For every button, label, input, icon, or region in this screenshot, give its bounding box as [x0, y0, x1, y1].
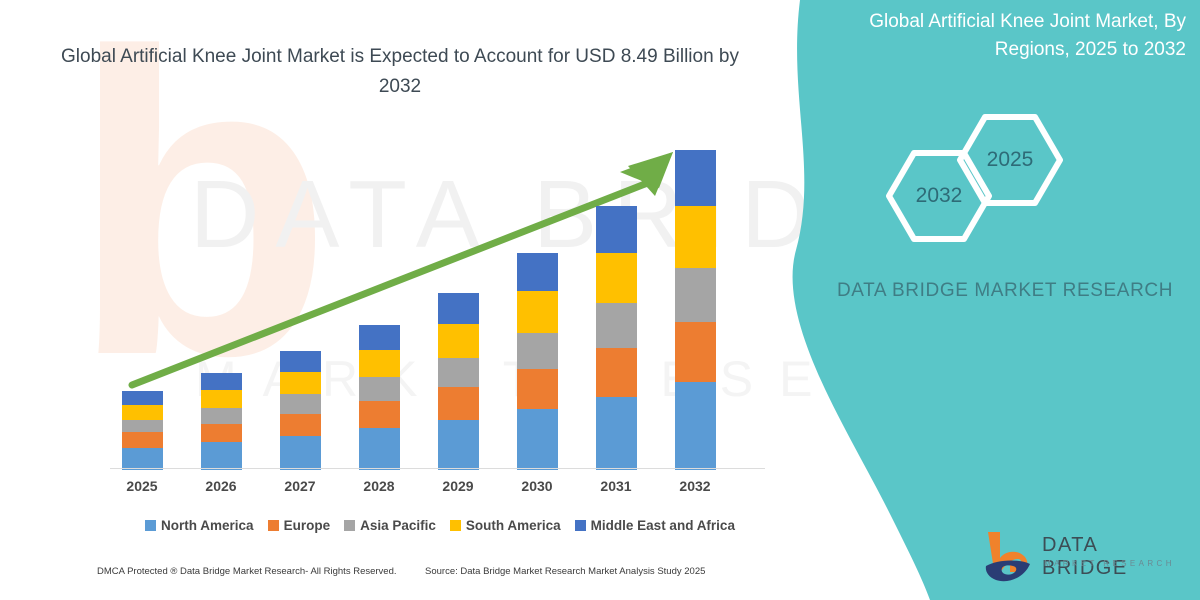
legend-swatch-icon	[450, 520, 461, 531]
bar-segment-middle-east-and-africa[interactable]	[596, 206, 637, 252]
bar-segment-asia-pacific[interactable]	[675, 268, 716, 322]
bar-segment-north-america[interactable]	[359, 428, 400, 470]
x-axis-label-2032: 2032	[665, 478, 725, 494]
logo-mark-icon	[980, 528, 1036, 586]
bar-segment-europe[interactable]	[201, 424, 242, 443]
bars-plot-area	[110, 140, 760, 470]
bar-2030[interactable]	[517, 253, 558, 470]
bar-segment-asia-pacific[interactable]	[359, 377, 400, 401]
bar-segment-europe[interactable]	[359, 401, 400, 428]
legend-label: Middle East and Africa	[591, 518, 735, 533]
legend-item-europe[interactable]: Europe	[268, 518, 331, 533]
bar-segment-north-america[interactable]	[122, 448, 163, 470]
legend-item-middle-east-and-africa[interactable]: Middle East and Africa	[575, 518, 735, 533]
bar-segment-middle-east-and-africa[interactable]	[280, 351, 321, 371]
chart-region: Global Artificial Knee Joint Market is E…	[0, 0, 800, 600]
hexagon-badge-2032: 2032	[884, 148, 994, 244]
bar-segment-europe[interactable]	[438, 387, 479, 420]
bar-segment-europe[interactable]	[596, 348, 637, 397]
bar-segment-south-america[interactable]	[675, 206, 716, 268]
bar-segment-middle-east-and-africa[interactable]	[201, 373, 242, 390]
bar-segment-north-america[interactable]	[675, 382, 716, 470]
x-axis-label-2030: 2030	[507, 478, 567, 494]
legend-label: Asia Pacific	[360, 518, 436, 533]
bar-segment-asia-pacific[interactable]	[596, 303, 637, 347]
bar-segment-asia-pacific[interactable]	[517, 333, 558, 369]
footer-source: Source: Data Bridge Market Research Mark…	[425, 566, 705, 577]
x-axis-label-2028: 2028	[349, 478, 409, 494]
bar-2028[interactable]	[359, 325, 400, 470]
legend-label: South America	[466, 518, 561, 533]
bar-2029[interactable]	[438, 293, 479, 470]
bar-segment-south-america[interactable]	[201, 390, 242, 408]
legend-swatch-icon	[575, 520, 586, 531]
bar-2026[interactable]	[201, 373, 242, 470]
bar-segment-north-america[interactable]	[280, 436, 321, 470]
bar-segment-north-america[interactable]	[438, 420, 479, 470]
bar-segment-europe[interactable]	[675, 322, 716, 382]
legend-item-south-america[interactable]: South America	[450, 518, 561, 533]
footer: DMCA Protected ® Data Bridge Market Rese…	[0, 566, 800, 590]
bar-segment-asia-pacific[interactable]	[122, 420, 163, 433]
logo-text-main: DATA BRIDGE	[1042, 534, 1180, 580]
legend-swatch-icon	[145, 520, 156, 531]
bar-segment-europe[interactable]	[280, 414, 321, 436]
right-side-panel: Global Artificial Knee Joint Market, By …	[770, 0, 1200, 600]
legend-label: North America	[161, 518, 254, 533]
legend-item-north-america[interactable]: North America	[145, 518, 254, 533]
footer-copyright: DMCA Protected ® Data Bridge Market Rese…	[97, 566, 397, 577]
bar-segment-north-america[interactable]	[517, 409, 558, 470]
panel-brand-text: DATA BRIDGE MARKET RESEARCH	[830, 275, 1180, 307]
panel-title: Global Artificial Knee Joint Market, By …	[790, 8, 1186, 64]
bar-2027[interactable]	[280, 351, 321, 470]
bar-segment-middle-east-and-africa[interactable]	[517, 253, 558, 291]
legend-item-asia-pacific[interactable]: Asia Pacific	[344, 518, 436, 533]
bar-2032[interactable]	[675, 150, 716, 470]
bar-segment-asia-pacific[interactable]	[280, 394, 321, 414]
bar-segment-north-america[interactable]	[201, 442, 242, 470]
bar-segment-middle-east-and-africa[interactable]	[122, 391, 163, 404]
logo-text-sub: MARKET RESEARCH	[1044, 559, 1175, 568]
x-axis-labels: 20252026202720282029203020312032	[110, 478, 760, 500]
bar-segment-middle-east-and-africa[interactable]	[675, 150, 716, 206]
chart-legend: North AmericaEuropeAsia PacificSouth Ame…	[110, 514, 770, 536]
bar-segment-europe[interactable]	[122, 432, 163, 447]
x-axis-label-2027: 2027	[270, 478, 330, 494]
bar-segment-europe[interactable]	[517, 369, 558, 409]
bar-segment-north-america[interactable]	[596, 397, 637, 470]
x-axis-label-2029: 2029	[428, 478, 488, 494]
axis-baseline	[110, 468, 765, 469]
bar-segment-south-america[interactable]	[280, 372, 321, 394]
bar-segment-asia-pacific[interactable]	[201, 408, 242, 424]
bar-segment-south-america[interactable]	[517, 291, 558, 333]
bar-2025[interactable]	[122, 391, 163, 470]
legend-swatch-icon	[268, 520, 279, 531]
bar-segment-middle-east-and-africa[interactable]	[359, 325, 400, 350]
bar-segment-south-america[interactable]	[438, 324, 479, 358]
chart-title: Global Artificial Knee Joint Market is E…	[40, 42, 760, 102]
bar-segment-south-america[interactable]	[596, 253, 637, 304]
bar-segment-south-america[interactable]	[359, 350, 400, 377]
bar-segment-asia-pacific[interactable]	[438, 358, 479, 387]
x-axis-label-2031: 2031	[586, 478, 646, 494]
bar-segment-south-america[interactable]	[122, 405, 163, 420]
data-bridge-logo: DATA BRIDGE MARKET RESEARCH	[980, 528, 1180, 586]
bar-segment-middle-east-and-africa[interactable]	[438, 293, 479, 324]
x-axis-label-2026: 2026	[191, 478, 251, 494]
legend-label: Europe	[284, 518, 331, 533]
bar-2031[interactable]	[596, 206, 637, 470]
x-axis-label-2025: 2025	[112, 478, 172, 494]
legend-swatch-icon	[344, 520, 355, 531]
hexagon-label-2032: 2032	[884, 148, 994, 244]
